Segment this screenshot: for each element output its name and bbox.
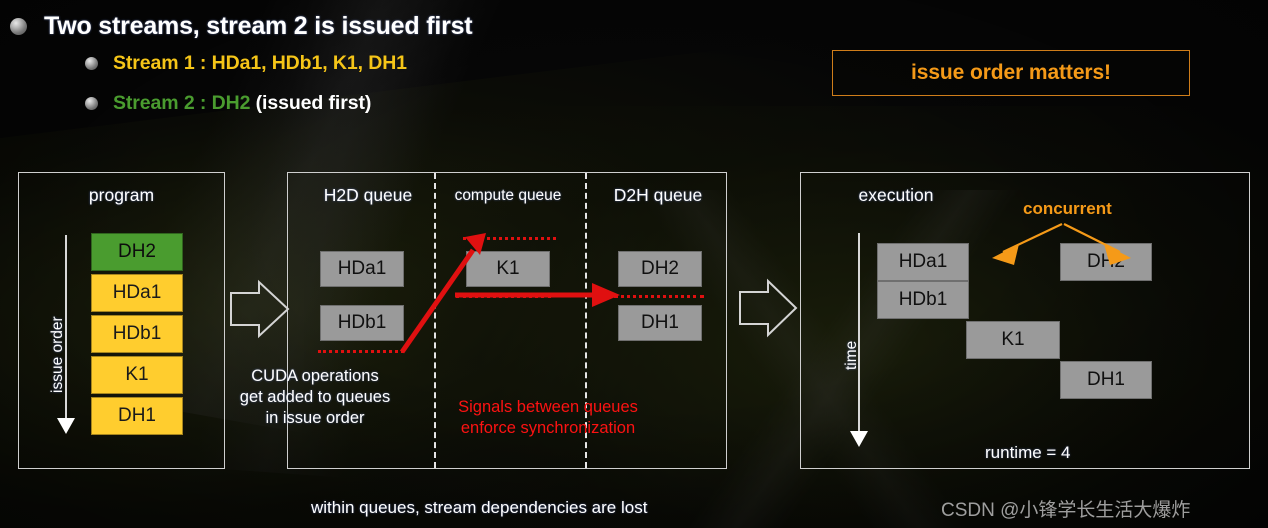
queue-op-box: DH2 (618, 251, 702, 287)
program-op-box: HDa1 (91, 274, 183, 312)
signal-dotted-line (456, 295, 551, 298)
sphere-bullet-icon (85, 97, 98, 110)
stream-2-line: Stream 2 : DH2 (issued first) (113, 92, 371, 115)
issue-order-banner: issue order matters! (832, 50, 1190, 96)
program-op-box: DH2 (91, 233, 183, 271)
stream-1-prefix: Stream 1 : (113, 52, 212, 74)
signal-dotted-line (318, 350, 404, 353)
program-panel: program issue order DH2 HDa1 HDb1 K1 DH1 (18, 172, 225, 469)
stream-2-value: DH2 (212, 92, 251, 114)
issue-order-banner-label: issue order matters! (911, 61, 1111, 85)
execution-op-box: DH1 (1060, 361, 1152, 399)
execution-op-box: HDa1 (877, 243, 969, 281)
watermark: CSDN @小锋学长生活大爆炸 (941, 495, 1190, 522)
stream-1-row: Stream 1 : HDa1, HDb1, K1, DH1 (85, 52, 407, 75)
cuda-operations-note: CUDA operations get added to queues in i… (210, 366, 420, 429)
block-arrow-right-icon (740, 281, 796, 335)
stream-2-row: Stream 2 : DH2 (issued first) (85, 92, 371, 115)
stream-1-line: Stream 1 : HDa1, HDb1, K1, DH1 (113, 52, 407, 75)
program-op-box: HDb1 (91, 315, 183, 353)
time-axis-label: time (843, 341, 861, 370)
queue-op-box: HDb1 (320, 305, 404, 341)
bottom-caption: within queues, stream dependencies are l… (311, 498, 647, 518)
queue-op-box: HDa1 (320, 251, 404, 287)
execution-op-box: HDb1 (877, 281, 969, 319)
cuda-note-line: get added to queues (210, 387, 420, 408)
title-row: Two streams, stream 2 is issued first (10, 12, 472, 41)
stream-1-value: HDa1, HDb1, K1, DH1 (212, 52, 407, 74)
page-title: Two streams, stream 2 is issued first (44, 12, 472, 41)
execution-op-box: K1 (966, 321, 1060, 359)
signals-note-line: enforce synchronization (408, 418, 688, 439)
queue-op-box: K1 (466, 251, 550, 287)
signals-note-line: Signals between queues (408, 397, 688, 418)
stream-2-prefix: Stream 2 : (113, 92, 212, 114)
program-op-box: K1 (91, 356, 183, 394)
cuda-note-line: in issue order (210, 408, 420, 429)
signal-dotted-line (614, 295, 704, 298)
signals-note: Signals between queues enforce synchroni… (408, 397, 688, 439)
time-axis-line (858, 233, 860, 433)
signal-dotted-line (463, 237, 556, 240)
issue-order-axis-label: issue order (49, 316, 67, 393)
down-arrow-icon (57, 418, 75, 434)
program-op-box: DH1 (91, 397, 183, 435)
stream-2-note: (issued first) (250, 92, 371, 114)
execution-op-box: DH2 (1060, 243, 1152, 281)
concurrent-label: concurrent (1023, 199, 1112, 219)
block-arrow-right-icon (231, 282, 288, 336)
sphere-bullet-icon (10, 18, 27, 35)
queue-op-box: DH1 (618, 305, 702, 341)
cuda-note-line: CUDA operations (210, 366, 420, 387)
runtime-label: runtime = 4 (985, 443, 1071, 463)
sphere-bullet-icon (85, 57, 98, 70)
down-arrow-icon (850, 431, 868, 447)
